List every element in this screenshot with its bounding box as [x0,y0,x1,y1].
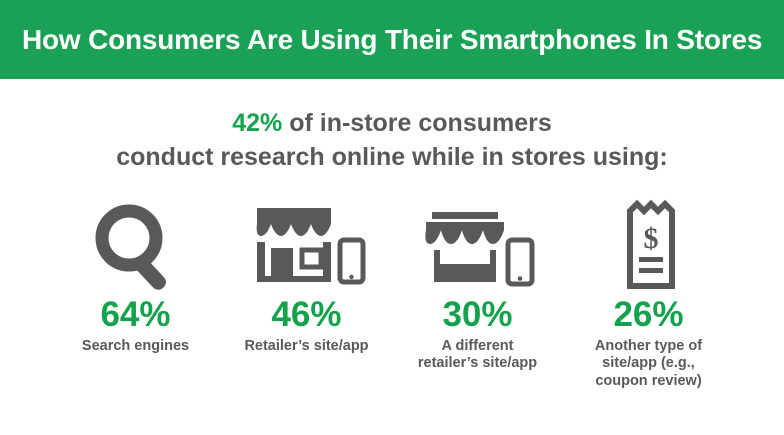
subtitle-highlight-stat: 42% [232,109,282,137]
stat-value: 64% [100,297,170,332]
stat-label-line: site/app (e.g., [595,355,702,373]
receipt-dollar-icon: $ [604,197,694,293]
stat-label-line: A different [418,338,537,356]
stat-value: 46% [271,297,341,332]
subtitle-line-1-rest: of in-store consumers [282,109,552,137]
stat-item-retailer-site: 46% Retailer’s site/app [221,197,392,356]
stat-label: Search engines [82,338,189,356]
stat-label-line: Search engines [82,338,189,356]
market-stall-smartphone-icon [418,200,538,290]
subtitle-line-1: 42% of in-store consumers [0,107,784,141]
stats-row: 64% Search engines [0,197,784,391]
stat-icon-wrapper [247,197,367,293]
stat-value: 30% [442,297,512,332]
header-banner: How Consumers Are Using Their Smartphone… [0,0,784,79]
magnifying-glass-icon [88,200,184,290]
page-title: How Consumers Are Using Their Smartphone… [22,26,762,54]
stat-label: A different retailer’s site/app [418,338,537,373]
stat-label-line: Another type of [595,338,702,356]
stat-label: Retailer’s site/app [244,338,368,356]
stat-label: Another type of site/app (e.g., coupon r… [595,338,702,391]
stat-label-line: retailer’s site/app [418,355,537,373]
stat-value: 26% [613,297,683,332]
stat-label-line: coupon review) [595,373,702,391]
stat-label-line: Retailer’s site/app [244,338,368,356]
stat-icon-wrapper [88,197,184,293]
stat-item-search-engines: 64% Search engines [50,197,221,356]
stat-item-different-retailer: 30% A different retailer’s site/app [392,197,563,373]
stat-icon-wrapper [418,197,538,293]
subtitle-line-2: conduct research online while in stores … [0,141,784,175]
stat-icon-wrapper: $ [604,197,694,293]
svg-text:$: $ [643,222,658,255]
storefront-smartphone-icon [247,200,367,290]
stat-item-another-type: $ 26% Another type of site/app (e.g., co… [563,197,734,391]
subtitle-block: 42% of in-store consumers conduct resear… [0,107,784,175]
infographic-root: How Consumers Are Using Their Smartphone… [0,0,784,435]
